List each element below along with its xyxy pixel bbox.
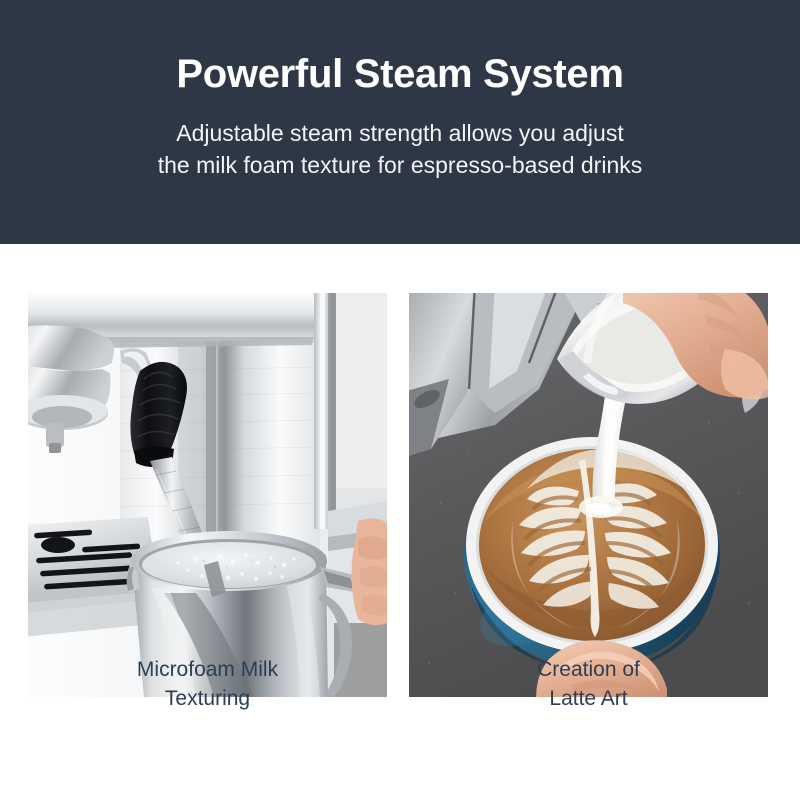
subtitle-line-2: the milk foam texture for espresso-based… bbox=[158, 149, 642, 182]
caption-latte-art: Creation of Latte Art bbox=[409, 656, 768, 714]
header-band: Powerful Steam System Adjustable steam s… bbox=[0, 0, 800, 244]
promo-graphic: Powerful Steam System Adjustable steam s… bbox=[0, 0, 800, 800]
caption-microfoam: Microfoam Milk Texturing bbox=[28, 656, 387, 714]
caption-microfoam-line-1: Microfoam Milk bbox=[137, 658, 278, 681]
page-subtitle: Adjustable steam strength allows you adj… bbox=[158, 117, 642, 182]
espresso-machine-steam-wand-frothing-milk-photo bbox=[28, 293, 387, 697]
caption-microfoam-line-2: Texturing bbox=[28, 685, 387, 714]
caption-latte-art-line-1: Creation of bbox=[537, 658, 640, 681]
page-title: Powerful Steam System bbox=[176, 52, 623, 97]
feature-panel-latte-art bbox=[409, 293, 768, 697]
feature-panel-microfoam bbox=[28, 293, 387, 697]
feature-grid: Microfoam Milk Texturing bbox=[0, 244, 800, 800]
pouring-milk-latte-art-rosetta-photo bbox=[409, 293, 768, 697]
subtitle-line-1: Adjustable steam strength allows you adj… bbox=[176, 120, 623, 146]
caption-latte-art-line-2: Latte Art bbox=[409, 685, 768, 714]
